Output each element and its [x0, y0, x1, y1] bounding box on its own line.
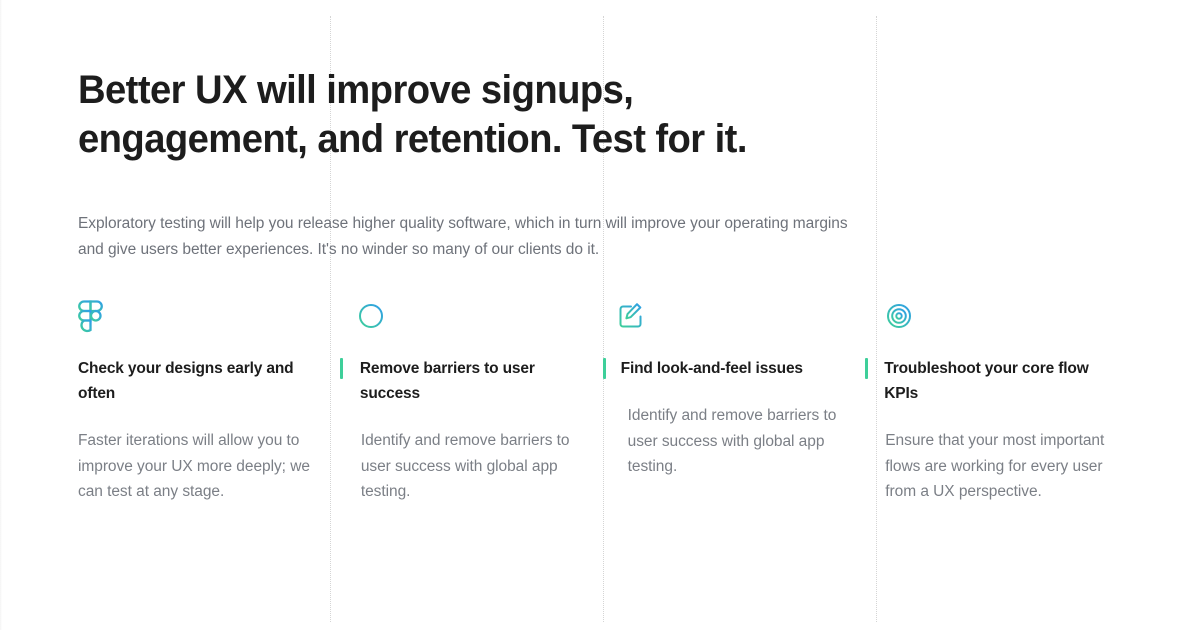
edit-square-icon	[618, 300, 844, 334]
target-icon	[886, 300, 1106, 334]
card-title: Check your designs early and often	[78, 356, 310, 406]
card-body: Identify and remove barriers to user suc…	[628, 403, 844, 480]
card-title-row: Find look-and-feel issues	[621, 356, 844, 381]
feature-card-list: Check your designs early and often Faste…	[78, 300, 1128, 505]
page-headline: Better UX will improve signups, engageme…	[78, 66, 832, 164]
card-body: Faster iterations will allow you to impr…	[78, 428, 318, 505]
figma-icon	[78, 300, 318, 334]
card-title-row: Check your designs early and often	[78, 356, 318, 406]
accent-bar	[340, 358, 343, 379]
card-body: Ensure that your most important flows ar…	[885, 428, 1106, 505]
accent-bar	[603, 358, 606, 379]
marketing-page: Better UX will improve signups, engageme…	[0, 0, 1200, 630]
card-title: Troubleshoot your core flow KPIs	[884, 356, 1106, 406]
feature-card: Troubleshoot your core flow KPIs Ensure …	[865, 300, 1128, 505]
card-title: Remove barriers to user success	[360, 356, 581, 406]
card-title-row: Remove barriers to user success	[361, 356, 581, 406]
intro-paragraph: Exploratory testing will help you releas…	[78, 211, 868, 263]
feature-card: Check your designs early and often Faste…	[78, 300, 340, 505]
feature-card: Remove barriers to user success Identify…	[340, 300, 603, 505]
card-title-row: Troubleshoot your core flow KPIs	[885, 356, 1106, 406]
alert-circle-icon	[358, 300, 581, 334]
accent-bar	[865, 358, 868, 379]
card-title: Find look-and-feel issues	[621, 356, 803, 381]
card-body: Identify and remove barriers to user suc…	[361, 428, 581, 505]
feature-card: Find look-and-feel issues Identify and r…	[603, 300, 866, 505]
